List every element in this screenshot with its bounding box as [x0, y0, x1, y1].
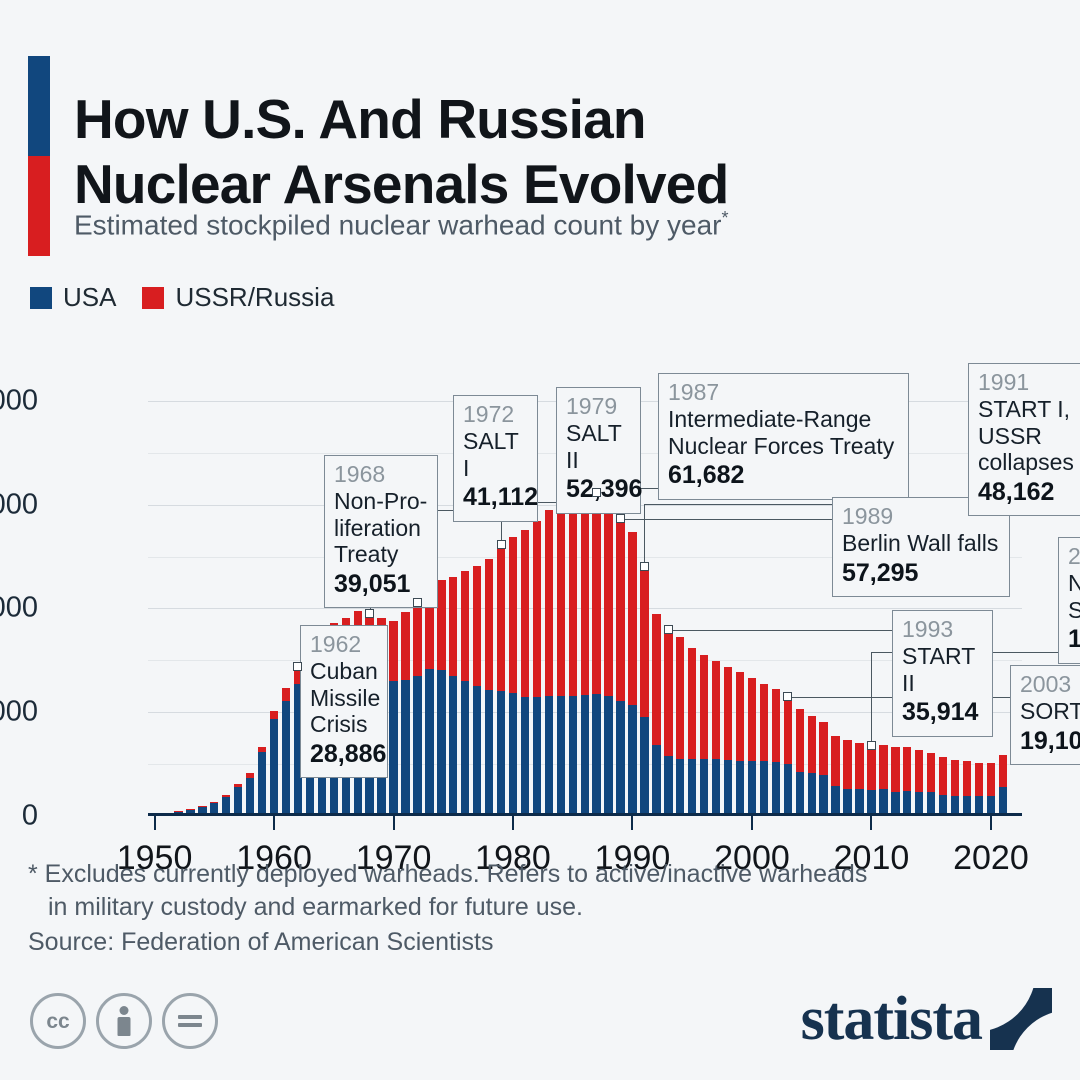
bar-1960 — [270, 711, 278, 816]
bar-2015 — [927, 753, 935, 816]
x-axis-tick-1950 — [154, 816, 156, 830]
bar-1993 — [664, 630, 672, 816]
bar-segment-ussr-russia — [867, 745, 875, 790]
bar-segment-usa — [808, 773, 816, 816]
callout-year: 1962 — [310, 631, 378, 658]
bar-segment-ussr-russia — [222, 795, 230, 797]
bar-segment-ussr-russia — [700, 655, 708, 759]
bar-segment-ussr-russia — [688, 648, 696, 760]
bar-segment-usa — [784, 764, 792, 816]
bar-segment-ussr-russia — [449, 577, 457, 676]
page-title: How U.S. And Russian Nuclear Arsenals Ev… — [74, 87, 1004, 217]
creative-commons-icons: cc — [30, 993, 218, 1049]
bar-2013 — [903, 747, 911, 816]
bar-2018 — [963, 761, 971, 816]
legend-item-ussr-russia: USSR/Russia — [142, 282, 334, 313]
bar-1959 — [258, 747, 266, 816]
bar-segment-usa — [437, 670, 445, 816]
callout-marker-1979 — [497, 540, 506, 549]
bar-segment-ussr-russia — [760, 684, 768, 762]
bar-segment-usa — [652, 745, 660, 816]
callout-text-line: Cuban — [310, 658, 378, 685]
callout-value: 39,051 — [334, 569, 428, 600]
bar-1980 — [509, 537, 517, 816]
callout-value: 35,914 — [902, 697, 983, 728]
bar-segment-usa — [796, 772, 804, 816]
statista-wordmark: statista — [801, 988, 982, 1050]
source-line: Source: Federation of American Scientist… — [28, 928, 494, 957]
callout-year: 1987 — [668, 379, 899, 406]
y-axis-tick-label: 60,000 — [0, 488, 38, 521]
bar-2004 — [796, 709, 804, 816]
bar-segment-ussr-russia — [843, 740, 851, 788]
bar-segment-usa — [760, 761, 768, 816]
bar-segment-usa — [533, 697, 541, 816]
bar-segment-usa — [772, 762, 780, 816]
bar-segment-ussr-russia — [282, 688, 290, 701]
bar-1986 — [581, 487, 589, 816]
bar-2011 — [879, 745, 887, 816]
bar-1973 — [425, 586, 433, 816]
bar-segment-usa — [819, 775, 827, 816]
bar-segment-ussr-russia — [246, 773, 254, 778]
bar-1998 — [724, 667, 732, 816]
callout-text-line: liferation — [334, 515, 428, 542]
bar-segment-ussr-russia — [461, 571, 469, 681]
callout-year: 1993 — [902, 616, 983, 643]
callout-value: 28,886 — [310, 739, 378, 770]
bar-segment-usa — [449, 676, 457, 816]
bar-segment-usa — [425, 669, 433, 816]
stacked-bar-chart: 19501960197019801990200020102020 1962Cub… — [0, 330, 1080, 840]
footnote-line-2: in military custody and earmarked for fu… — [28, 891, 1028, 924]
bar-segment-ussr-russia — [437, 580, 445, 670]
bar-1958 — [246, 773, 254, 816]
y-axis-tick-label: 20,000 — [0, 696, 38, 729]
bar-segment-ussr-russia — [581, 487, 589, 695]
bar-1994 — [676, 637, 684, 816]
bar-segment-ussr-russia — [389, 621, 397, 681]
bar-segment-usa — [604, 696, 612, 816]
x-axis-tick-1980 — [512, 816, 514, 830]
cc-icon: cc — [30, 993, 86, 1049]
callout-year: 1968 — [334, 461, 428, 488]
leader-h-1993 — [668, 630, 892, 631]
bar-1979 — [497, 544, 505, 816]
bar-1996 — [700, 655, 708, 816]
callout-value: 19,103 — [1020, 726, 1080, 757]
callout-text-line: Non-Pro- — [334, 488, 428, 515]
bar-segment-ussr-russia — [628, 532, 636, 705]
bar-1977 — [473, 566, 481, 816]
bar-1990 — [628, 532, 636, 816]
bar-2007 — [831, 736, 839, 816]
bar-1999 — [736, 672, 744, 816]
footnote: * Excludes currently deployed warheads. … — [28, 858, 1028, 924]
bar-segment-usa — [413, 676, 421, 816]
callout-1991[interactable]: 1991START I,USSR collapses48,162 — [968, 363, 1080, 516]
bar-segment-usa — [497, 691, 505, 816]
title-line-1: How U.S. And Russian — [74, 88, 646, 150]
bar-segment-ussr-russia — [927, 753, 935, 792]
bar-segment-usa — [616, 701, 624, 816]
callout-year: 1991 — [978, 369, 1080, 396]
callout-year: 2010 — [1068, 543, 1080, 570]
bar-segment-ussr-russia — [569, 493, 577, 696]
bar-segment-ussr-russia — [939, 757, 947, 795]
bar-1961 — [282, 688, 290, 816]
bar-2003 — [784, 697, 792, 816]
bar-1974 — [437, 580, 445, 816]
bar-segment-ussr-russia — [210, 802, 218, 803]
callout-marker-1991 — [640, 562, 649, 571]
bar-2017 — [951, 760, 959, 816]
bar-1982 — [533, 521, 541, 816]
bar-segment-usa — [545, 696, 553, 816]
callout-text-line: SALT I — [463, 428, 528, 481]
bar-segment-usa — [700, 759, 708, 816]
legend-swatch-usa — [30, 287, 52, 309]
subtitle-text: Estimated stockpiled nuclear warhead cou… — [74, 209, 721, 240]
bar-segment-ussr-russia — [473, 566, 481, 686]
x-axis-tick-2010 — [870, 816, 872, 830]
bar-1975 — [449, 577, 457, 816]
bar-segment-usa — [712, 759, 720, 816]
bar-segment-ussr-russia — [198, 806, 206, 807]
bar-segment-ussr-russia — [652, 614, 660, 745]
bar-1985 — [569, 493, 577, 816]
bar-segment-ussr-russia — [521, 530, 529, 696]
bar-segment-usa — [581, 695, 589, 816]
bar-segment-usa — [270, 719, 278, 816]
bar-2010 — [867, 745, 875, 816]
callout-1987[interactable]: 1987Intermediate-RangeNuclear Forces Tre… — [658, 373, 909, 500]
bar-segment-ussr-russia — [497, 544, 505, 691]
bar-segment-usa — [640, 717, 648, 816]
bar-segment-usa — [246, 778, 254, 816]
bar-segment-ussr-russia — [879, 745, 887, 789]
bar-1997 — [712, 661, 720, 816]
bar-segment-usa — [389, 681, 397, 816]
callout-1993[interactable]: 1993START II35,914 — [892, 610, 993, 737]
bar-segment-usa — [999, 787, 1007, 816]
bar-segment-usa — [569, 696, 577, 816]
bar-segment-ussr-russia — [640, 566, 648, 717]
accent-blue — [28, 56, 50, 156]
bar-1987 — [592, 493, 600, 816]
bar-segment-usa — [592, 694, 600, 816]
bar-segment-usa — [664, 756, 672, 816]
bar-1984 — [557, 501, 565, 816]
callout-text-line: Treaty — [334, 541, 428, 568]
callout-year: 1979 — [566, 393, 631, 420]
x-axis-tick-2020 — [990, 816, 992, 830]
bar-segment-ussr-russia — [915, 750, 923, 792]
bar-2009 — [855, 743, 863, 816]
bar-segment-ussr-russia — [724, 667, 732, 760]
infographic-page: How U.S. And Russian Nuclear Arsenals Ev… — [0, 0, 1080, 1080]
bar-segment-usa — [628, 705, 636, 816]
bar-segment-ussr-russia — [401, 612, 409, 680]
bar-2021 — [999, 755, 1007, 816]
bar-segment-usa — [473, 686, 481, 816]
callout-marker-1962 — [293, 662, 302, 671]
bar-1995 — [688, 648, 696, 816]
no-derivatives-equals-icon — [162, 993, 218, 1049]
bar-1978 — [485, 558, 493, 816]
callout-text-line: Berlin Wall falls — [842, 530, 1000, 557]
callout-value: 48,162 — [978, 477, 1080, 508]
callout-text-line: USSR collapses — [978, 423, 1080, 476]
callout-1962[interactable]: 1962CubanMissileCrisis28,886 — [300, 625, 388, 778]
callout-value: 10,281 — [1068, 624, 1080, 655]
bar-segment-ussr-russia — [736, 672, 744, 760]
bar-segment-ussr-russia — [557, 501, 565, 695]
bar-segment-usa — [258, 752, 266, 816]
x-axis-tick-1960 — [273, 816, 275, 830]
bar-segment-ussr-russia — [533, 521, 541, 697]
callout-value: 61,682 — [668, 460, 899, 491]
callout-marker-2003 — [783, 692, 792, 701]
callout-marker-2010 — [867, 741, 876, 750]
legend-swatch-ussr-russia — [142, 287, 164, 309]
bar-segment-ussr-russia — [604, 504, 612, 696]
bar-segment-ussr-russia — [891, 747, 899, 791]
bar-1991 — [640, 566, 648, 816]
bar-segment-usa — [509, 693, 517, 816]
bar-segment-ussr-russia — [616, 519, 624, 701]
bar-2006 — [819, 722, 827, 816]
legend-label-ussr-russia: USSR/Russia — [175, 282, 334, 313]
bar-segment-usa — [401, 680, 409, 816]
callout-1972[interactable]: 1972SALT I41,112 — [453, 395, 538, 522]
plot-area: 19501960197019801990200020102020 1962Cub… — [148, 375, 1022, 816]
callout-2010[interactable]: 2010New START10,281 — [1058, 537, 1080, 664]
bar-segment-ussr-russia — [784, 697, 792, 764]
callout-text-line: Missile — [310, 685, 378, 712]
leader-v-1991 — [644, 504, 645, 566]
bar-segment-ussr-russia — [796, 709, 804, 771]
bar-1972 — [413, 603, 421, 816]
bar-segment-ussr-russia — [819, 722, 827, 775]
bar-segment-ussr-russia — [712, 661, 720, 760]
x-axis-tick-1970 — [393, 816, 395, 830]
bar-segment-ussr-russia — [676, 637, 684, 759]
bar-segment-ussr-russia — [258, 747, 266, 752]
bar-segment-usa — [736, 761, 744, 816]
bar-segment-usa — [688, 759, 696, 816]
x-axis-line — [148, 813, 1022, 816]
bar-segment-ussr-russia — [855, 743, 863, 789]
bar-segment-ussr-russia — [234, 784, 242, 787]
bar-2016 — [939, 757, 947, 816]
accent-red — [28, 156, 50, 256]
callout-2003[interactable]: 2003SORT19,103 — [1010, 665, 1080, 765]
callout-marker-1993 — [664, 625, 673, 634]
callout-year: 1972 — [463, 401, 528, 428]
footnote-line-1: * Excludes currently deployed warheads. … — [28, 860, 867, 888]
bar-1976 — [461, 571, 469, 816]
bar-1988 — [604, 504, 612, 816]
statista-brand: statista — [801, 988, 1052, 1050]
x-axis-tick-1990 — [631, 816, 633, 830]
callout-1968[interactable]: 1968Non-Pro-liferationTreaty39,051 — [324, 455, 438, 608]
callout-year: 2003 — [1020, 671, 1080, 698]
callout-text-line: New START — [1068, 570, 1080, 623]
callout-marker-1968 — [365, 609, 374, 618]
page-subtitle: Estimated stockpiled nuclear warhead cou… — [74, 208, 1034, 242]
bar-segment-ussr-russia — [987, 763, 995, 796]
bar-segment-usa — [234, 787, 242, 816]
legend-item-usa: USA — [30, 282, 116, 313]
bar-segment-ussr-russia — [748, 678, 756, 761]
callout-value: 41,112 — [463, 482, 528, 513]
bar-segment-usa — [282, 701, 290, 816]
bar-segment-ussr-russia — [186, 809, 194, 810]
bar-2012 — [891, 747, 899, 816]
bar-1989 — [616, 519, 624, 816]
statista-logo-mark — [990, 988, 1052, 1050]
bar-2020 — [987, 763, 995, 816]
bar-segment-ussr-russia — [903, 747, 911, 791]
bar-segment-ussr-russia — [592, 493, 600, 695]
subtitle-asterisk: * — [721, 208, 728, 228]
leader-v-2010 — [871, 652, 872, 745]
bar-segment-ussr-russia — [270, 711, 278, 719]
bar-2008 — [843, 740, 851, 816]
bar-1983 — [545, 510, 553, 816]
bar-segment-usa — [676, 759, 684, 816]
callout-marker-1987 — [592, 488, 601, 497]
bar-segment-ussr-russia — [951, 760, 959, 796]
bar-segment-ussr-russia — [999, 755, 1007, 787]
leader-h-1989 — [621, 519, 832, 520]
bar-segment-usa — [461, 681, 469, 816]
bar-1970 — [389, 621, 397, 816]
attribution-person-icon — [96, 993, 152, 1049]
y-axis-tick-label: 80,000 — [0, 384, 38, 417]
bar-2005 — [808, 716, 816, 816]
x-axis-tick-2000 — [751, 816, 753, 830]
callout-text-line: SALT II — [566, 420, 631, 473]
bar-segment-ussr-russia — [772, 689, 780, 762]
bar-1981 — [521, 530, 529, 816]
title-line-2: Nuclear Arsenals Evolved — [74, 152, 1004, 217]
bar-segment-usa — [843, 789, 851, 816]
callout-text-line: START I, — [978, 396, 1080, 423]
bar-1957 — [234, 784, 242, 816]
bar-segment-usa — [485, 690, 493, 816]
bar-2001 — [760, 684, 768, 816]
bar-segment-ussr-russia — [545, 510, 553, 696]
bar-2002 — [772, 689, 780, 816]
bar-segment-ussr-russia — [808, 716, 816, 773]
bar-segment-ussr-russia — [509, 537, 517, 693]
y-axis-tick-label: 0 — [0, 800, 38, 833]
callout-text-line: Nuclear Forces Treaty — [668, 433, 899, 460]
bar-segment-ussr-russia — [963, 761, 971, 797]
title-accent-bar — [28, 56, 50, 256]
bar-segment-usa — [748, 761, 756, 816]
bar-1992 — [652, 614, 660, 816]
callout-text-line: SORT — [1020, 698, 1080, 725]
bar-2014 — [915, 750, 923, 816]
callout-value: 57,295 — [842, 558, 1000, 589]
bar-segment-usa — [831, 786, 839, 816]
bar-segment-ussr-russia — [664, 630, 672, 757]
legend-label-usa: USA — [63, 282, 116, 313]
bar-segment-ussr-russia — [975, 763, 983, 797]
chart-legend: USA USSR/Russia — [30, 282, 334, 313]
bar-segment-usa — [557, 696, 565, 817]
bar-2019 — [975, 763, 983, 816]
callout-text-line: START II — [902, 643, 983, 696]
bar-segment-ussr-russia — [485, 559, 493, 691]
bar-1971 — [401, 612, 409, 816]
callout-marker-1989 — [616, 514, 625, 523]
bar-segment-ussr-russia — [831, 736, 839, 787]
callout-marker-1972 — [413, 598, 422, 607]
bar-2000 — [748, 678, 756, 816]
bar-segment-ussr-russia — [413, 603, 421, 676]
callout-text-line: Intermediate-Range — [668, 406, 899, 433]
bar-segment-usa — [521, 697, 529, 816]
y-axis-tick-label: 40,000 — [0, 592, 38, 625]
callout-text-line: Crisis — [310, 711, 378, 738]
bar-segment-usa — [724, 760, 732, 816]
